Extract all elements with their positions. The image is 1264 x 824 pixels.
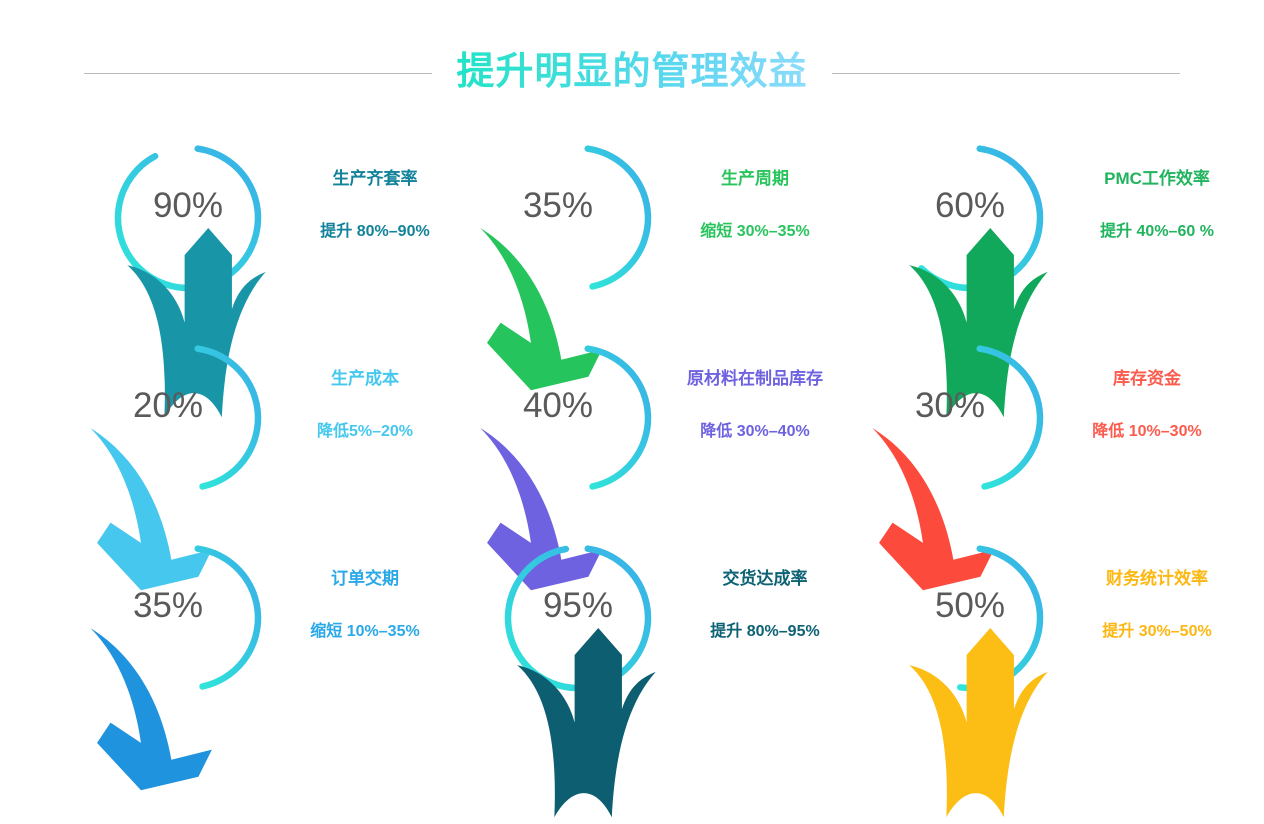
- metric-text: 订单交期缩短 10%–35%: [262, 568, 468, 643]
- metric-label: 原材料在制品库存: [652, 368, 858, 390]
- metric-label: 生产成本: [262, 368, 468, 390]
- metric-delta: 降低 10%–30%: [1044, 422, 1250, 443]
- metric-delta: 降低5%–20%: [262, 422, 468, 443]
- metric-text: 交货达成率提升 80%–95%: [662, 568, 868, 643]
- metric-card[interactable]: 90%生产齐套率提升 80%–90%: [66, 120, 466, 316]
- metric-delta: 降低 30%–40%: [652, 422, 858, 443]
- metric-delta: 提升 40%–60 %: [1054, 222, 1260, 243]
- metric-text: 原材料在制品库存降低 30%–40%: [652, 368, 858, 443]
- metric-value: 35%: [70, 588, 266, 623]
- metric-card[interactable]: 95%交货达成率提升 80%–95%: [456, 520, 856, 716]
- metric-label: PMC工作效率: [1054, 168, 1260, 190]
- metric-card[interactable]: 50%财务统计效率提升 30%–50%: [848, 520, 1248, 716]
- metric-label: 生产齐套率: [272, 168, 478, 190]
- progress-dial[interactable]: 35%: [480, 120, 676, 316]
- metric-label: 财务统计效率: [1054, 568, 1260, 590]
- metric-text: PMC工作效率提升 40%–60 %: [1054, 168, 1260, 243]
- metric-card[interactable]: 40%原材料在制品库存降低 30%–40%: [456, 320, 856, 516]
- metric-value: 50%: [872, 588, 1068, 623]
- metric-delta: 缩短 10%–35%: [262, 622, 468, 643]
- progress-dial[interactable]: 20%: [90, 320, 286, 516]
- metric-value: 40%: [460, 388, 656, 423]
- progress-dial[interactable]: 40%: [480, 320, 676, 516]
- progress-dial[interactable]: 30%: [872, 320, 1068, 516]
- metric-delta: 提升 80%–95%: [662, 622, 868, 643]
- progress-dial[interactable]: 90%: [90, 120, 286, 316]
- metric-card[interactable]: 35%生产周期缩短 30%–35%: [456, 120, 856, 316]
- metric-card[interactable]: 35%订单交期缩短 10%–35%: [66, 520, 466, 716]
- metric-text: 生产齐套率提升 80%–90%: [272, 168, 478, 243]
- metric-text: 生产周期缩短 30%–35%: [652, 168, 858, 243]
- metric-value: 20%: [70, 388, 266, 423]
- metric-label: 订单交期: [262, 568, 468, 590]
- metric-value: 90%: [90, 188, 286, 223]
- progress-dial[interactable]: 95%: [480, 520, 676, 716]
- metric-text: 生产成本降低5%–20%: [262, 368, 468, 443]
- progress-dial[interactable]: 35%: [90, 520, 286, 716]
- metric-card[interactable]: 20%生产成本降低5%–20%: [66, 320, 466, 516]
- metric-card[interactable]: 30%库存资金降低 10%–30%: [848, 320, 1248, 516]
- metric-delta: 提升 30%–50%: [1054, 622, 1260, 643]
- progress-dial[interactable]: 60%: [872, 120, 1068, 316]
- metric-label: 交货达成率: [662, 568, 868, 590]
- metric-value: 30%: [852, 388, 1048, 423]
- metric-delta: 提升 80%–90%: [272, 222, 478, 243]
- header-rule-left: [84, 73, 432, 74]
- metric-value: 35%: [460, 188, 656, 223]
- metric-label: 库存资金: [1044, 368, 1250, 390]
- progress-dial[interactable]: 50%: [872, 520, 1068, 716]
- header-rule-right: [832, 73, 1180, 74]
- metric-card[interactable]: 60%PMC工作效率提升 40%–60 %: [848, 120, 1248, 316]
- metric-label: 生产周期: [652, 168, 858, 190]
- metric-value: 60%: [872, 188, 1068, 223]
- metric-text: 库存资金降低 10%–30%: [1044, 368, 1250, 443]
- page-title: 提升明显的管理效益: [454, 50, 809, 96]
- metric-text: 财务统计效率提升 30%–50%: [1054, 568, 1260, 643]
- page-header: 提升明显的管理效益: [0, 40, 1264, 106]
- metric-value: 95%: [480, 588, 676, 623]
- metrics-grid: 90%生产齐套率提升 80%–90%35%生产周期缩短 30%–35%60%PM…: [0, 120, 1264, 710]
- metric-delta: 缩短 30%–35%: [652, 222, 858, 243]
